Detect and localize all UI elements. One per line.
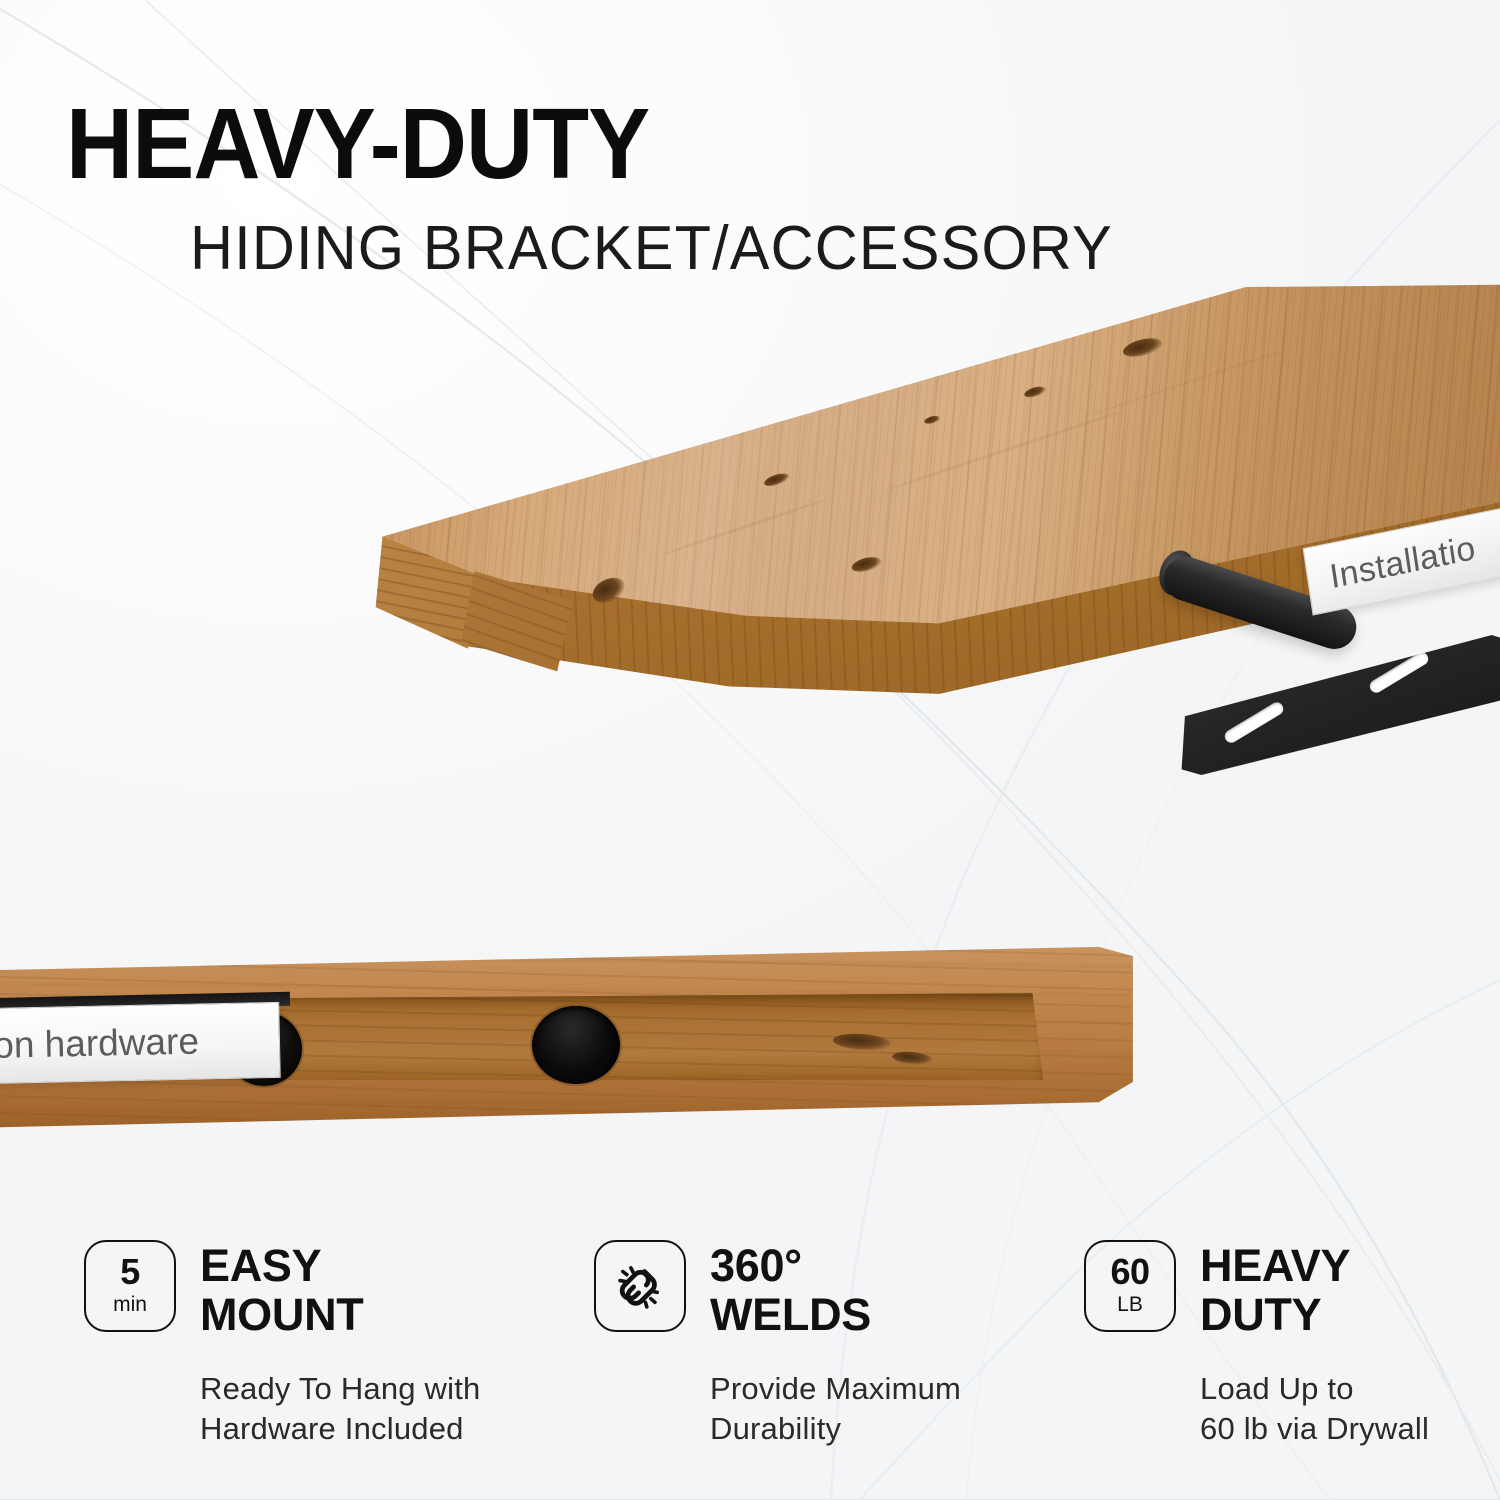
chain-link-icon-glyph bbox=[611, 1257, 669, 1315]
feature-title-line1: HEAVY bbox=[1200, 1242, 1350, 1291]
feature-description: Provide Maximum Durability bbox=[710, 1369, 1064, 1450]
feature-title: HEAVY DUTY bbox=[1200, 1240, 1350, 1339]
feature-title: 360° WELDS bbox=[710, 1240, 871, 1339]
feature-desc-line1: Load Up to bbox=[1200, 1369, 1500, 1409]
feature-desc-line2: 60 lb via Drywall bbox=[1200, 1409, 1500, 1449]
feature-360-welds: 360° WELDS Provide Maximum Durability bbox=[594, 1240, 1064, 1450]
rod-hole bbox=[532, 1006, 620, 1084]
badge-unit: min bbox=[113, 1292, 147, 1318]
feature-row: 5 min EASY MOUNT Ready To Hang with Hard… bbox=[0, 1240, 1500, 1470]
weight-capacity-badge-icon: 60 LB bbox=[1084, 1240, 1176, 1332]
bracket-mounting-slot bbox=[1223, 700, 1286, 745]
feature-title-line1: 360° bbox=[710, 1242, 871, 1291]
feature-desc-line2: Hardware Included bbox=[200, 1409, 554, 1449]
feature-description: Load Up to 60 lb via Drywall bbox=[1200, 1369, 1500, 1450]
feature-header: 360° WELDS bbox=[594, 1240, 1064, 1339]
feature-header: 60 LB HEAVY DUTY bbox=[1084, 1240, 1500, 1339]
duration-badge-icon: 5 min bbox=[84, 1240, 176, 1332]
hardware-label-box-back-view: ion hardware bbox=[0, 1002, 281, 1084]
feature-desc-line2: Durability bbox=[710, 1409, 1064, 1449]
feature-heavy-duty: 60 LB HEAVY DUTY Load Up to 60 lb via Dr… bbox=[1084, 1240, 1500, 1450]
feature-description: Ready To Hang with Hardware Included bbox=[200, 1369, 554, 1450]
badge-number: 60 bbox=[1110, 1254, 1149, 1290]
feature-title-line2: DUTY bbox=[1200, 1291, 1350, 1340]
marketing-image-stage: HEAVY-DUTY HIDING BRACKET/ACCESSORY bbox=[0, 0, 1500, 1500]
hardware-label-text: ion hardware bbox=[0, 1021, 199, 1068]
wood-grain-streak bbox=[314, 1100, 734, 1102]
feature-easy-mount: 5 min EASY MOUNT Ready To Hang with Hard… bbox=[84, 1240, 554, 1450]
product-photo-angled-shelf: Installatio bbox=[0, 250, 1500, 870]
feature-header: 5 min EASY MOUNT bbox=[84, 1240, 554, 1339]
feature-title-line2: MOUNT bbox=[200, 1291, 363, 1340]
feature-desc-line1: Provide Maximum bbox=[710, 1369, 1064, 1409]
badge-number: 5 bbox=[120, 1254, 140, 1290]
feature-title: EASY MOUNT bbox=[200, 1240, 363, 1339]
feature-title-line1: EASY bbox=[200, 1242, 363, 1291]
feature-desc-line1: Ready To Hang with bbox=[200, 1369, 554, 1409]
badge-unit: LB bbox=[1117, 1292, 1143, 1318]
wood-grain-streak bbox=[668, 1075, 968, 1078]
feature-title-line2: WELDS bbox=[710, 1291, 871, 1340]
page-title: HEAVY-DUTY bbox=[66, 96, 1052, 192]
chain-link-weld-icon bbox=[594, 1240, 686, 1332]
